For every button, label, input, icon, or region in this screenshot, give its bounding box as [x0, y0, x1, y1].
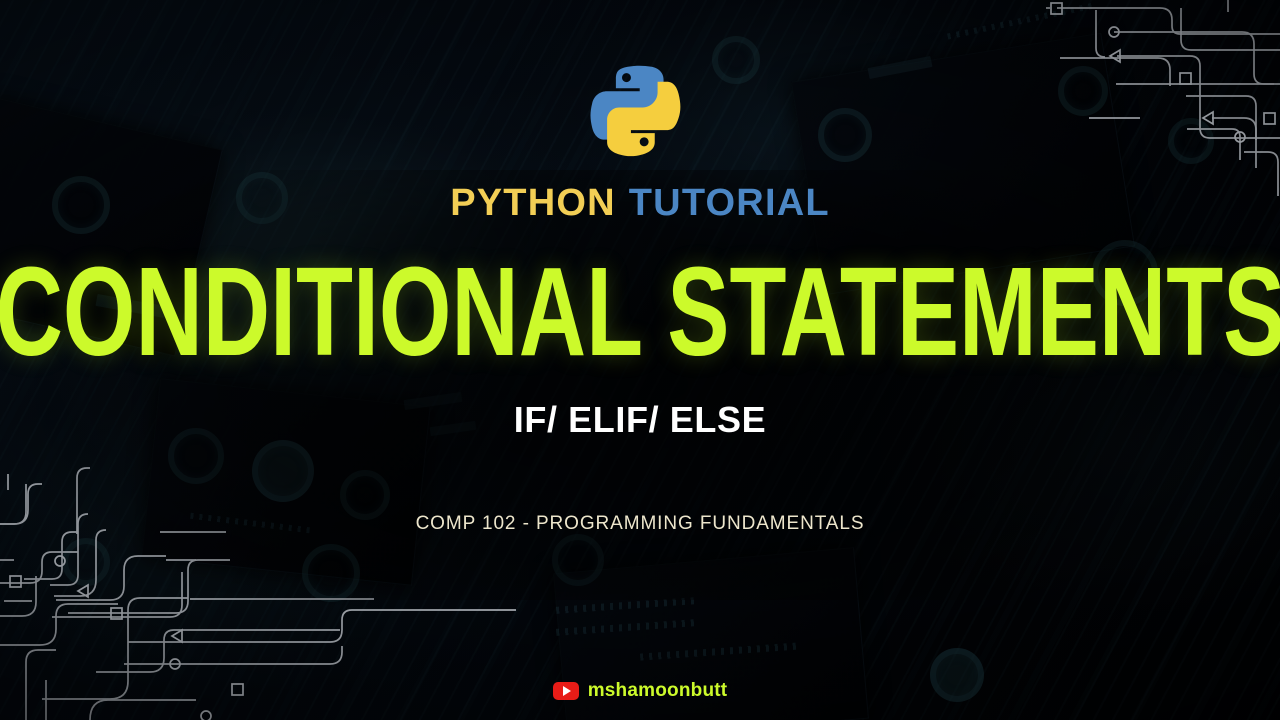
kicker-python: PYTHON — [450, 182, 616, 224]
course-label: COMP 102 - PROGRAMMING FUNDAMENTALS — [416, 513, 865, 535]
page-title: CONDITIONAL STATEMENTS — [0, 252, 1280, 373]
slide-canvas: PYTHONTUTORIAL CONDITIONAL STATEMENTS IF… — [0, 0, 1280, 720]
kicker-tutorial: TUTORIAL — [629, 182, 830, 224]
page-subtitle: IF/ ELIF/ ELSE — [514, 399, 766, 441]
youtube-icon — [553, 682, 579, 700]
channel-branding: mshamoonbutt — [0, 680, 1280, 702]
play-triangle-icon — [563, 686, 571, 696]
slide-content: PYTHONTUTORIAL CONDITIONAL STATEMENTS IF… — [0, 0, 1280, 720]
channel-name: mshamoonbutt — [588, 680, 728, 702]
kicker-line: PYTHONTUTORIAL — [450, 184, 830, 222]
python-logo — [588, 58, 692, 162]
